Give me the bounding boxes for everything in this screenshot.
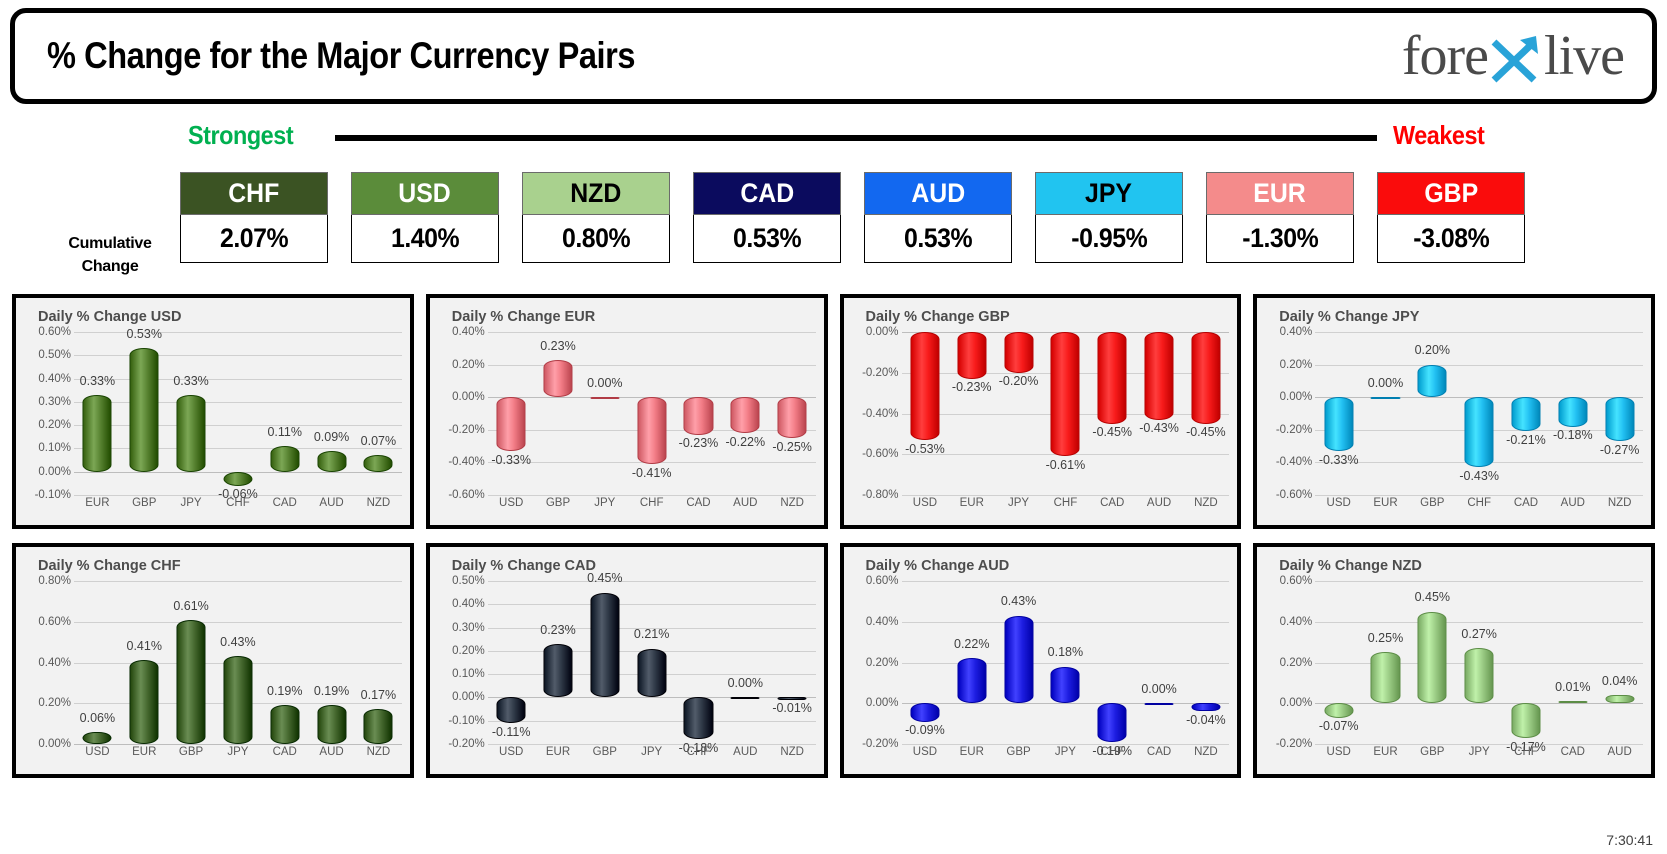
bar-aud	[1558, 397, 1587, 426]
strength-card-value: -0.95%	[1035, 215, 1183, 263]
header-bar: % Change for the Major Currency Pairs fo…	[10, 8, 1657, 104]
page-title: % Change for the Major Currency Pairs	[47, 35, 635, 77]
bar-value-label: 0.19%	[267, 684, 302, 698]
bar-value-label: 0.45%	[587, 571, 622, 585]
x-tick-label: CAD	[261, 497, 308, 509]
y-axis: 0.60%0.40%0.20%0.00%-0.20%	[848, 581, 902, 744]
bar-eur	[957, 332, 986, 379]
y-axis: 0.40%0.20%0.00%-0.20%-0.40%-0.60%	[1261, 332, 1315, 495]
chart-title: Daily % Change GBP	[866, 309, 1010, 325]
bar-value-label: -0.33%	[491, 453, 531, 467]
forexlive-logo: forelive	[1402, 28, 1624, 84]
x-tick-label: JPY	[1042, 746, 1089, 758]
grid-line	[1315, 744, 1643, 745]
plot-area: -0.33%0.23%0.00%-0.41%-0.23%-0.22%-0.25%	[488, 332, 816, 495]
bar-chf	[684, 697, 713, 739]
x-tick-label: CAD	[1136, 746, 1183, 758]
bar-slot: 0.07%	[355, 332, 402, 495]
bar-aud	[317, 705, 346, 744]
y-tick-label: 0.00%	[1280, 391, 1313, 403]
bar-slot: -0.09%	[902, 581, 949, 744]
plot-area: 0.33%0.53%0.33%-0.06%0.11%0.09%0.07%	[74, 332, 402, 495]
bars: -0.07%0.25%0.45%0.27%-0.17%0.01%0.04%	[1315, 581, 1643, 744]
chart-chf: Daily % Change CHF0.06%0.41%0.61%0.43%0.…	[12, 543, 414, 778]
bar-nzd	[778, 697, 807, 699]
bar-aud	[731, 397, 760, 433]
y-tick-label: 0.40%	[452, 598, 485, 610]
y-tick-label: 0.20%	[1280, 359, 1313, 371]
x-tick-label: GBP	[535, 497, 582, 509]
bar-value-label: -0.07%	[1319, 719, 1359, 733]
bar-value-label: 0.20%	[1415, 343, 1450, 357]
bar-slot: 0.41%	[121, 581, 168, 744]
y-tick-label: -0.80%	[862, 489, 898, 501]
strength-card-value: -3.08%	[1377, 215, 1525, 263]
forex-currency-dashboard: % Change for the Major Currency Pairs fo…	[0, 0, 1667, 854]
x-tick-label: AUD	[308, 497, 355, 509]
bar-slot: 0.19%	[308, 581, 355, 744]
bar-slot: 0.19%	[261, 581, 308, 744]
bar-slot: 0.00%	[1136, 581, 1183, 744]
y-tick-label: 0.20%	[38, 419, 71, 431]
y-axis: 0.40%0.20%0.00%-0.20%-0.40%-0.60%	[434, 332, 488, 495]
plot: 0.06%0.41%0.61%0.43%0.19%0.19%0.17%0.80%…	[16, 581, 406, 770]
bar-usd	[1324, 703, 1353, 717]
bar-jpy	[637, 649, 666, 698]
chart-eur: Daily % Change EUR-0.33%0.23%0.00%-0.41%…	[426, 294, 828, 529]
chart-gbp: Daily % Change GBP-0.53%-0.23%-0.20%-0.6…	[840, 294, 1242, 529]
bar-aud	[1145, 332, 1174, 420]
bar-slot: 0.45%	[1409, 581, 1456, 744]
x-axis: USDEURGBPJPYCHFAUDNZD	[488, 746, 816, 768]
x-tick-label: EUR	[1362, 746, 1409, 758]
bar-slot: -0.53%	[902, 332, 949, 495]
bar-slot: -0.07%	[1315, 581, 1362, 744]
bar-gbp	[543, 360, 572, 397]
bar-value-label: 0.00%	[587, 376, 622, 390]
strength-card-value: 0.80%	[522, 215, 670, 263]
y-tick-label: 0.30%	[452, 622, 485, 634]
strength-card-code: USD	[351, 172, 499, 215]
strength-card-code: GBP	[1377, 172, 1525, 215]
grid-line	[1315, 495, 1643, 496]
y-tick-label: 0.00%	[1280, 697, 1313, 709]
bar-slot: 0.04%	[1596, 581, 1643, 744]
plot: -0.33%0.23%0.00%-0.41%-0.23%-0.22%-0.25%…	[430, 332, 820, 521]
y-tick-label: 0.10%	[38, 442, 71, 454]
bars: -0.53%-0.23%-0.20%-0.61%-0.45%-0.43%-0.4…	[902, 332, 1230, 495]
bar-cad	[270, 705, 299, 744]
bar-value-label: 0.11%	[267, 425, 302, 439]
x-tick-label: USD	[488, 497, 535, 509]
strength-card-value: 1.40%	[351, 215, 499, 263]
x-tick-label: CHF	[214, 497, 261, 509]
x-tick-label: JPY	[1456, 746, 1503, 758]
x-tick-label: CHF	[628, 497, 675, 509]
bar-gbp	[130, 348, 159, 471]
bar-usd	[497, 697, 526, 723]
bar-value-label: 0.22%	[954, 637, 989, 651]
x-tick-label: AUD	[722, 497, 769, 509]
bar-value-label: 0.18%	[1048, 645, 1083, 659]
x-tick-label: JPY	[628, 746, 675, 758]
y-tick-label: 0.40%	[866, 616, 899, 628]
x-axis: USDEURGBPCHFCADAUDNZD	[1315, 497, 1643, 519]
bar-value-label: 0.23%	[540, 339, 575, 353]
x-tick-label: JPY	[581, 497, 628, 509]
x-tick-label: USD	[902, 497, 949, 509]
bar-jpy	[590, 397, 619, 399]
bar-slot: 0.11%	[261, 332, 308, 495]
bar-slot: -0.33%	[1315, 332, 1362, 495]
bar-usd	[497, 397, 526, 451]
bar-slot: 0.09%	[308, 332, 355, 495]
bar-jpy	[1465, 648, 1494, 703]
bar-eur	[543, 644, 572, 698]
bar-value-label: 0.23%	[540, 623, 575, 637]
bar-jpy	[1004, 332, 1033, 373]
x-tick-label: AUD	[722, 746, 769, 758]
bar-slot: -0.20%	[995, 332, 1042, 495]
bar-slot: 0.00%	[1362, 332, 1409, 495]
strength-card-value: 2.07%	[180, 215, 328, 263]
x-tick-label: GBP	[1409, 746, 1456, 758]
grid-line	[488, 495, 816, 496]
x-tick-label: GBP	[168, 746, 215, 758]
bar-gbp	[177, 620, 206, 744]
x-tick-label: CAD	[1549, 746, 1596, 758]
x-tick-label: CHF	[675, 746, 722, 758]
y-tick-label: 0.20%	[866, 657, 899, 669]
strength-card-value: -1.30%	[1206, 215, 1354, 263]
y-axis: 0.60%0.40%0.20%0.00%-0.20%	[1261, 581, 1315, 744]
bar-nzd	[778, 397, 807, 438]
timestamp: 7:30:41	[1606, 832, 1653, 848]
y-tick-label: 0.20%	[452, 359, 485, 371]
bar-value-label: -0.25%	[772, 440, 812, 454]
bar-slot: 0.33%	[168, 332, 215, 495]
bar-slot: 0.21%	[628, 581, 675, 744]
strongest-label: Strongest	[188, 120, 293, 151]
y-tick-label: 0.40%	[1280, 326, 1313, 338]
y-tick-label: -0.60%	[1276, 489, 1312, 501]
strength-card-jpy: JPY-0.95%	[1035, 172, 1183, 263]
bar-slot: -0.61%	[1042, 332, 1089, 495]
x-tick-label: EUR	[948, 746, 995, 758]
y-tick-label: 0.40%	[38, 657, 71, 669]
bar-nzd	[364, 709, 393, 744]
bar-value-label: -0.27%	[1600, 443, 1640, 457]
bar-value-label: -0.09%	[905, 723, 945, 737]
bar-slot: 0.20%	[1409, 332, 1456, 495]
plot: -0.09%0.22%0.43%0.18%-0.19%0.00%-0.04%0.…	[844, 581, 1234, 770]
bar-value-label: -0.61%	[1046, 458, 1086, 472]
plot: -0.53%-0.23%-0.20%-0.61%-0.45%-0.43%-0.4…	[844, 332, 1234, 521]
chart-nzd: Daily % Change NZD-0.07%0.25%0.45%0.27%-…	[1253, 543, 1655, 778]
x-tick-label: NZD	[355, 497, 402, 509]
bar-chf	[1098, 703, 1127, 742]
y-tick-label: -0.60%	[448, 489, 484, 501]
y-tick-label: 0.00%	[452, 391, 485, 403]
bar-value-label: -0.43%	[1459, 469, 1499, 483]
x-tick-label: NZD	[769, 746, 816, 758]
chart-grid: Daily % Change USD0.33%0.53%0.33%-0.06%0…	[12, 294, 1655, 778]
x-axis: USDEURGBPJPYCHFCADAUD	[1315, 746, 1643, 768]
bar-value-label: 0.53%	[127, 327, 162, 341]
bar-value-label: 0.17%	[361, 688, 396, 702]
chart-title: Daily % Change JPY	[1279, 309, 1419, 325]
bars: 0.06%0.41%0.61%0.43%0.19%0.19%0.17%	[74, 581, 402, 744]
bar-slot: -0.41%	[628, 332, 675, 495]
y-tick-label: 0.20%	[452, 645, 485, 657]
x-tick-label: CAD	[675, 497, 722, 509]
x-tick-label: USD	[74, 746, 121, 758]
x-tick-label: NZD	[1596, 497, 1643, 509]
bar-slot: -0.18%	[675, 581, 722, 744]
x-tick-label: CHF	[1042, 497, 1089, 509]
bar-value-label: 0.41%	[127, 639, 162, 653]
y-tick-label: -0.40%	[862, 408, 898, 420]
bar-value-label: 0.00%	[728, 676, 763, 690]
currency-strength-cards: CHF2.07%USD1.40%NZD0.80%CAD0.53%AUD0.53%…	[180, 172, 1525, 263]
y-axis: 0.00%-0.20%-0.40%-0.60%-0.80%	[848, 332, 902, 495]
x-tick-label: CAD	[1503, 497, 1550, 509]
plot-area: -0.09%0.22%0.43%0.18%-0.19%0.00%-0.04%	[902, 581, 1230, 744]
bar-eur	[1371, 652, 1400, 703]
plot-area: -0.11%0.23%0.45%0.21%-0.18%0.00%-0.01%	[488, 581, 816, 744]
bar-value-label: 0.04%	[1602, 674, 1637, 688]
x-tick-label: EUR	[948, 497, 995, 509]
y-tick-label: 0.00%	[866, 697, 899, 709]
plot-area: -0.07%0.25%0.45%0.27%-0.17%0.01%0.04%	[1315, 581, 1643, 744]
bar-slot: 0.25%	[1362, 581, 1409, 744]
bar-slot: 0.27%	[1456, 581, 1503, 744]
y-tick-label: -0.20%	[862, 738, 898, 750]
x-tick-label: NZD	[1182, 497, 1229, 509]
grid-line	[488, 744, 816, 745]
x-tick-label: EUR	[121, 746, 168, 758]
x-tick-label: JPY	[168, 497, 215, 509]
bar-aud	[731, 697, 760, 699]
bar-chf	[1051, 332, 1080, 456]
bars: -0.33%0.23%0.00%-0.41%-0.23%-0.22%-0.25%	[488, 332, 816, 495]
bar-value-label: 0.33%	[80, 374, 115, 388]
bar-slot: -0.23%	[948, 332, 995, 495]
strength-axis-line	[335, 135, 1377, 141]
bar-value-label: 0.00%	[1141, 682, 1176, 696]
x-tick-label: CHF	[1089, 746, 1136, 758]
bar-value-label: -0.18%	[1553, 428, 1593, 442]
strength-card-nzd: NZD0.80%	[522, 172, 670, 263]
x-tick-label: CAD	[261, 746, 308, 758]
x-tick-label: AUD	[1596, 746, 1643, 758]
bar-slot: -0.21%	[1503, 332, 1550, 495]
y-tick-label: 0.00%	[452, 691, 485, 703]
y-tick-label: -0.20%	[448, 738, 484, 750]
x-tick-label: JPY	[995, 497, 1042, 509]
bar-slot: -0.11%	[488, 581, 535, 744]
x-tick-label: GBP	[121, 497, 168, 509]
y-tick-label: 0.50%	[38, 349, 71, 361]
strength-card-value: 0.53%	[864, 215, 1012, 263]
bar-nzd	[364, 455, 393, 471]
strength-card-code: AUD	[864, 172, 1012, 215]
bar-value-label: -0.21%	[1506, 433, 1546, 447]
bar-value-label: -0.23%	[679, 436, 719, 450]
bar-eur	[1371, 397, 1400, 399]
y-tick-label: -0.20%	[1276, 738, 1312, 750]
bar-gbp	[1418, 612, 1447, 704]
bar-slot: -0.25%	[769, 332, 816, 495]
bar-value-label: -0.33%	[1319, 453, 1359, 467]
bar-chf	[1465, 397, 1494, 467]
x-tick-label: GBP	[995, 746, 1042, 758]
bar-value-label: -0.20%	[999, 374, 1039, 388]
bar-gbp	[1418, 365, 1447, 398]
bar-aud	[317, 451, 346, 472]
strength-card-usd: USD1.40%	[351, 172, 499, 263]
chart-title: Daily % Change NZD	[1279, 558, 1422, 574]
bar-slot: 0.01%	[1549, 581, 1596, 744]
bar-cad	[1558, 701, 1587, 703]
bar-jpy	[1051, 667, 1080, 704]
bar-value-label: 0.09%	[314, 430, 349, 444]
y-tick-label: -0.20%	[1276, 424, 1312, 436]
y-tick-label: 0.60%	[1280, 575, 1313, 587]
x-tick-label: CHF	[1503, 746, 1550, 758]
bar-nzd	[1605, 397, 1634, 441]
bar-cad	[1145, 703, 1174, 705]
bar-value-label: 0.43%	[1001, 594, 1036, 608]
bar-value-label: -0.45%	[1092, 425, 1132, 439]
bar-slot: 0.61%	[168, 581, 215, 744]
grid-line	[902, 495, 1230, 496]
bar-slot: 0.53%	[121, 332, 168, 495]
y-tick-label: -0.10%	[35, 489, 71, 501]
bar-slot: -0.22%	[722, 332, 769, 495]
chart-title: Daily % Change CAD	[452, 558, 596, 574]
bars: -0.33%0.00%0.20%-0.43%-0.21%-0.18%-0.27%	[1315, 332, 1643, 495]
bar-value-label: 0.43%	[220, 635, 255, 649]
y-tick-label: 0.40%	[452, 326, 485, 338]
bar-slot: -0.19%	[1089, 581, 1136, 744]
bar-slot: 0.17%	[355, 581, 402, 744]
strength-card-cad: CAD0.53%	[693, 172, 841, 263]
bar-value-label: -0.04%	[1186, 713, 1226, 727]
y-tick-label: -0.40%	[448, 456, 484, 468]
x-tick-label: NZD	[769, 497, 816, 509]
bar-chf	[223, 472, 252, 486]
chart-jpy: Daily % Change JPY-0.33%0.00%0.20%-0.43%…	[1253, 294, 1655, 529]
bar-value-label: 0.19%	[314, 684, 349, 698]
cumulative-label-line2: Change	[40, 255, 180, 278]
y-axis: 0.60%0.50%0.40%0.30%0.20%0.10%0.00%-0.10…	[20, 332, 74, 495]
bar-eur	[130, 660, 159, 744]
bar-value-label: 0.21%	[634, 627, 669, 641]
bar-slot: -0.01%	[769, 581, 816, 744]
chart-title: Daily % Change CHF	[38, 558, 181, 574]
bar-value-label: 0.01%	[1555, 680, 1590, 694]
chart-title: Daily % Change EUR	[452, 309, 595, 325]
y-tick-label: 0.10%	[452, 668, 485, 680]
bar-slot: 0.23%	[535, 581, 582, 744]
x-tick-label: CHF	[1456, 497, 1503, 509]
bars: -0.09%0.22%0.43%0.18%-0.19%0.00%-0.04%	[902, 581, 1230, 744]
bar-slot: 0.33%	[74, 332, 121, 495]
y-tick-label: -0.20%	[448, 424, 484, 436]
x-axis: USDEURGBPJPYCADAUDNZD	[74, 746, 402, 768]
strength-card-code: NZD	[522, 172, 670, 215]
x-tick-label: GBP	[581, 746, 628, 758]
bar-value-label: -0.23%	[952, 380, 992, 394]
plot: -0.33%0.00%0.20%-0.43%-0.21%-0.18%-0.27%…	[1257, 332, 1647, 521]
bar-value-label: 0.25%	[1368, 631, 1403, 645]
bar-value-label: 0.33%	[173, 374, 208, 388]
x-tick-label: GBP	[1409, 497, 1456, 509]
bar-slot: -0.04%	[1182, 581, 1229, 744]
bar-slot: -0.23%	[675, 332, 722, 495]
y-tick-label: 0.40%	[1280, 616, 1313, 628]
y-tick-label: 0.40%	[38, 373, 71, 385]
bar-usd	[83, 732, 112, 744]
strength-card-gbp: GBP-3.08%	[1377, 172, 1525, 263]
plot-area: -0.33%0.00%0.20%-0.43%-0.21%-0.18%-0.27%	[1315, 332, 1643, 495]
bar-jpy	[177, 395, 206, 472]
cumulative-label-line1: Cumulative	[40, 232, 180, 255]
x-tick-label: USD	[1315, 746, 1362, 758]
y-tick-label: 0.60%	[866, 575, 899, 587]
y-tick-label: -0.60%	[862, 448, 898, 460]
bar-value-label: -0.01%	[772, 701, 812, 715]
bar-eur	[83, 395, 112, 472]
bar-slot: -0.45%	[1182, 332, 1229, 495]
bar-usd	[910, 332, 939, 440]
logo-text-pre: fore	[1402, 28, 1488, 84]
plot-area: -0.53%-0.23%-0.20%-0.61%-0.45%-0.43%-0.4…	[902, 332, 1230, 495]
bar-value-label: 0.61%	[173, 599, 208, 613]
logo-text-post: live	[1544, 28, 1624, 84]
bar-slot: -0.43%	[1136, 332, 1183, 495]
bar-gbp	[590, 593, 619, 698]
y-tick-label: 0.60%	[38, 616, 71, 628]
y-axis: 0.80%0.60%0.40%0.20%0.00%	[20, 581, 74, 744]
bar-chf	[1511, 703, 1540, 738]
y-tick-label: 0.00%	[38, 738, 71, 750]
x-axis: USDEURJPYCHFCADAUDNZD	[902, 497, 1230, 519]
bar-nzd	[1191, 703, 1220, 711]
logo-x-arrow-icon	[1488, 28, 1544, 84]
chart-title: Daily % Change AUD	[866, 558, 1010, 574]
plot-area: 0.06%0.41%0.61%0.43%0.19%0.19%0.17%	[74, 581, 402, 744]
plot: -0.07%0.25%0.45%0.27%-0.17%0.01%0.04%0.6…	[1257, 581, 1647, 770]
strength-card-code: JPY	[1035, 172, 1183, 215]
bar-usd	[1324, 397, 1353, 451]
y-tick-label: -0.40%	[1276, 456, 1312, 468]
bar-cad	[684, 397, 713, 434]
bar-value-label: 0.07%	[361, 434, 396, 448]
bar-nzd	[1191, 332, 1220, 424]
strength-card-code: CAD	[693, 172, 841, 215]
strength-card-eur: EUR-1.30%	[1206, 172, 1354, 263]
grid-line	[902, 744, 1230, 745]
y-tick-label: 0.80%	[38, 575, 71, 587]
bar-usd	[910, 703, 939, 721]
x-tick-label: AUD	[1549, 497, 1596, 509]
x-tick-label: EUR	[74, 497, 121, 509]
plot: -0.11%0.23%0.45%0.21%-0.18%0.00%-0.01%0.…	[430, 581, 820, 770]
y-tick-label: 0.00%	[866, 326, 899, 338]
bar-slot: -0.17%	[1503, 581, 1550, 744]
